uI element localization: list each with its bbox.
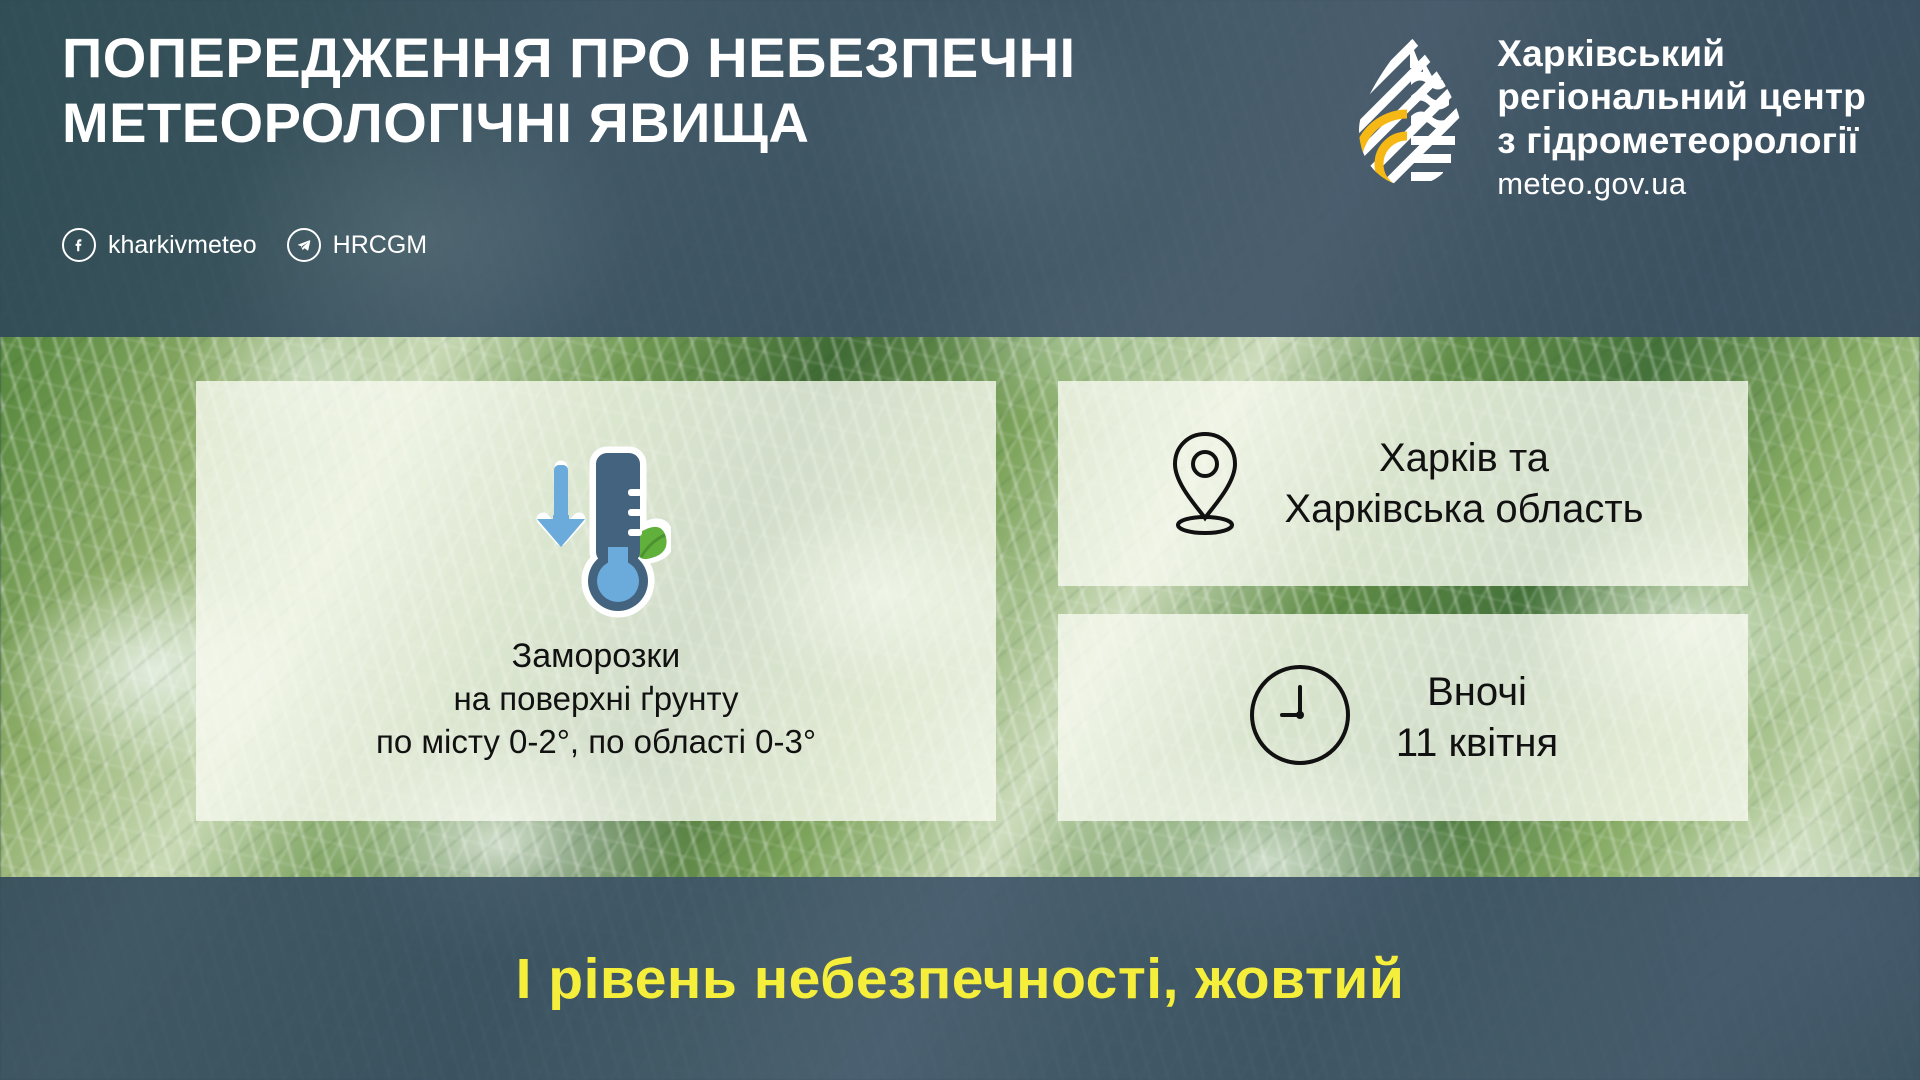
time-line-1: Вночі: [1396, 667, 1558, 717]
page-title-line-1: ПОПЕРЕДЖЕННЯ ПРО НЕБЕЗПЕЧНІ: [62, 26, 1212, 91]
map-pin-icon: [1162, 426, 1248, 541]
time-card: Вночі 11 квітня: [1058, 614, 1748, 821]
footer-band: I рівень небезпечності, жовтий: [0, 877, 1920, 1080]
content-area: Заморозки на поверхні ґрунту по місту 0-…: [0, 337, 1920, 877]
time-line-2: 11 квітня: [1396, 718, 1558, 768]
organization-name: Харківський регіональний центр з гідроме…: [1497, 32, 1866, 162]
social-label-telegram: HRCGM: [333, 231, 427, 260]
organization-logo-block: Харківський регіональний центр з гідроме…: [1349, 32, 1866, 202]
organization-website[interactable]: meteo.gov.ua: [1497, 166, 1866, 202]
organization-name-line-3: з гідрометеорології: [1497, 119, 1866, 162]
clock-icon: [1248, 663, 1352, 772]
social-label-facebook: kharkivmeteo: [108, 231, 257, 260]
hazard-line-2: на поверхні ґрунту: [376, 678, 816, 721]
page-title: ПОПЕРЕДЖЕННЯ ПРО НЕБЕЗПЕЧНІ МЕТЕОРОЛОГІЧ…: [62, 26, 1212, 156]
facebook-icon: [62, 228, 96, 262]
organization-name-block: Харківський регіональний центр з гідроме…: [1497, 32, 1866, 202]
thermometer-down-leaf-icon: [521, 439, 671, 624]
social-links: kharkivmeteo HRCGM: [62, 228, 427, 262]
hazard-line-3: по місту 0-2°, по області 0-3°: [376, 721, 816, 764]
hydrometeorology-droplet-logo: [1349, 32, 1471, 192]
organization-name-line-1: Харківський: [1497, 32, 1866, 75]
hazard-card: Заморозки на поверхні ґрунту по місту 0-…: [196, 381, 996, 821]
social-link-facebook[interactable]: kharkivmeteo: [62, 228, 257, 262]
social-link-telegram[interactable]: HRCGM: [287, 228, 427, 262]
time-text: Вночі 11 квітня: [1396, 667, 1558, 768]
location-card: Харків та Харківська область: [1058, 381, 1748, 586]
location-line-1: Харків та: [1284, 433, 1643, 483]
header-band: ПОПЕРЕДЖЕННЯ ПРО НЕБЕЗПЕЧНІ МЕТЕОРОЛОГІЧ…: [0, 0, 1920, 337]
hazard-line-1: Заморозки: [376, 634, 816, 678]
organization-name-line-2: регіональний центр: [1497, 75, 1866, 118]
location-line-2: Харківська область: [1284, 484, 1643, 534]
danger-level-text: I рівень небезпечності, жовтий: [516, 946, 1405, 1012]
telegram-icon: [287, 228, 321, 262]
hazard-description: Заморозки на поверхні ґрунту по місту 0-…: [376, 634, 816, 764]
page-title-line-2: МЕТЕОРОЛОГІЧНІ ЯВИЩА: [62, 91, 1212, 156]
location-text: Харків та Харківська область: [1284, 433, 1643, 534]
